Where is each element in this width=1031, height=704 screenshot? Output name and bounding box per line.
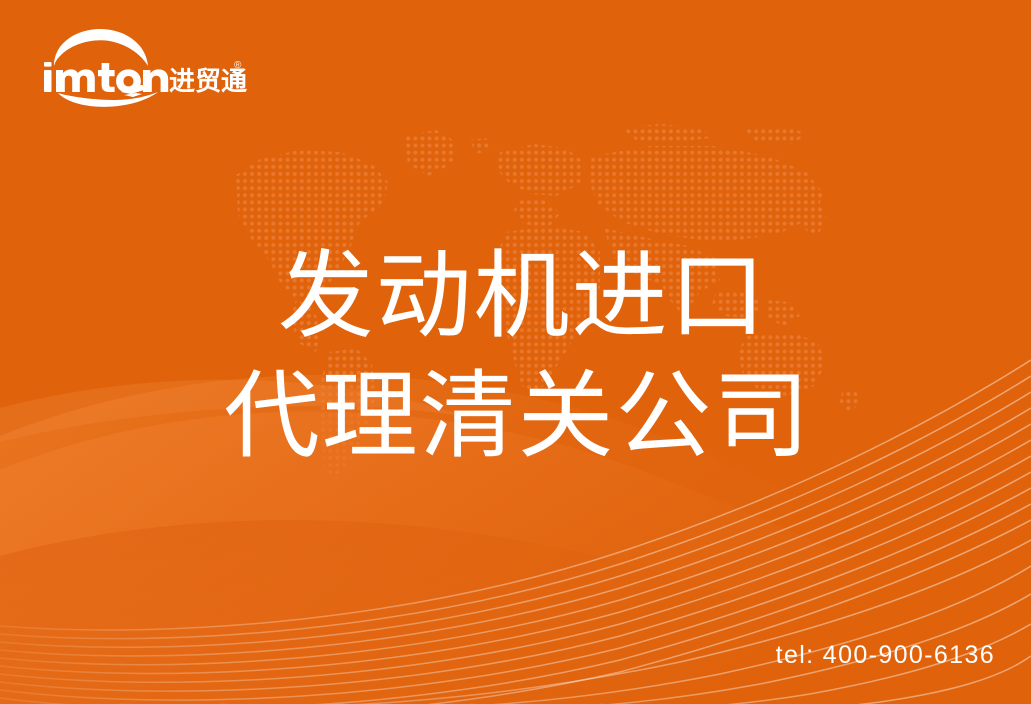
trademark-symbol: ® (234, 60, 242, 71)
promo-banner: 进贸通 ® 发动机进口 代理清关公司 tel: 400-900-6136 (0, 0, 1031, 704)
logo[interactable]: 进贸通 ® (38, 26, 248, 108)
contact-phone[interactable]: tel: 400-900-6136 (776, 641, 995, 670)
globe-dome-icon (54, 29, 148, 66)
logo-chinese-name: 进贸通 (169, 67, 247, 97)
logo-wordmark (44, 62, 168, 93)
